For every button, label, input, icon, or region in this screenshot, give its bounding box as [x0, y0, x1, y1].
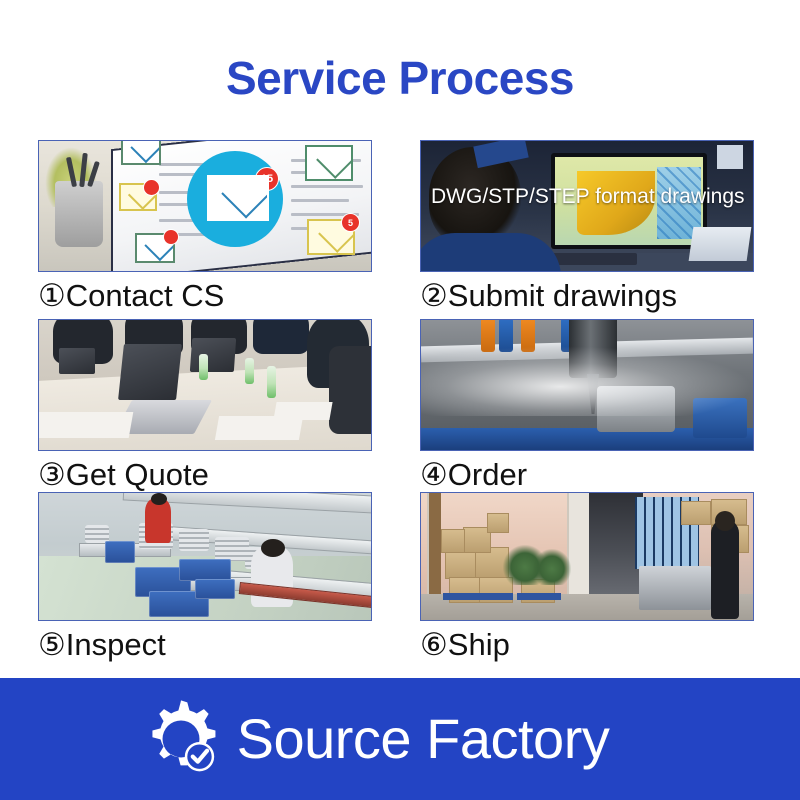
- drawing-format-overlay: DWG/STP/STEP format drawings: [431, 185, 745, 209]
- handling-cart: [639, 566, 711, 610]
- service-process-grid: 15 5 ①Contact CS: [38, 140, 750, 675]
- step-card-1: 15 5 ①Contact CS: [38, 140, 372, 314]
- step-text-2: Submit drawings: [448, 278, 677, 313]
- step-number-6: ⑥: [420, 627, 448, 662]
- step-number-4: ④: [420, 457, 448, 492]
- background-window: [717, 145, 743, 169]
- pen-cup: [55, 181, 103, 247]
- unread-badge-dot-a: [143, 179, 160, 196]
- step-label-5: ⑤Inspect: [38, 627, 372, 663]
- step-card-2: DWG/STP/STEP format drawings ②Submit dra…: [420, 140, 754, 314]
- step-label-4: ④Order: [420, 457, 754, 493]
- step-number-5: ⑤: [38, 627, 66, 662]
- brand-name: Source Factory: [237, 711, 610, 767]
- step-label-1: ①Contact CS: [38, 278, 372, 314]
- papers: [689, 227, 752, 261]
- email-inbox-photo: 15 5: [38, 140, 372, 272]
- unread-badge-5: 5: [341, 213, 360, 232]
- cad-workstation-photo: DWG/STP/STEP format drawings: [420, 140, 754, 272]
- page-title: Service Process: [0, 54, 800, 102]
- step-number-2: ②: [420, 278, 448, 313]
- step-label-3: ③Get Quote: [38, 457, 372, 493]
- step-card-3: ③Get Quote: [38, 319, 372, 493]
- step-card-4: ④Order: [420, 319, 754, 493]
- warehouse-shipping-photo: [420, 492, 754, 621]
- step-number-3: ③: [38, 457, 66, 492]
- step-text-5: Inspect: [66, 627, 166, 662]
- cnc-machining-photo: [420, 319, 754, 451]
- engineer-shoulder: [420, 233, 561, 272]
- worker-red: [145, 499, 171, 543]
- step-text-6: Ship: [448, 627, 510, 662]
- inspection-workshop-photo: [38, 492, 372, 621]
- gear-check-icon: [139, 697, 223, 781]
- coolant-spray: [421, 346, 753, 416]
- step-card-6: ⑥Ship: [420, 492, 754, 663]
- step-number-1: ①: [38, 278, 66, 313]
- meeting-room-photo: [38, 319, 372, 451]
- unread-badge-dot-b: [163, 229, 179, 245]
- warehouse-worker: [711, 519, 739, 619]
- step-text-3: Get Quote: [66, 457, 209, 492]
- step-label-2: ②Submit drawings: [420, 278, 754, 314]
- warehouse-worker-head: [715, 511, 735, 531]
- step-text-1: Contact CS: [66, 278, 225, 313]
- step-card-5: ⑤Inspect: [38, 492, 372, 663]
- step-label-6: ⑥Ship: [420, 627, 754, 663]
- step-text-4: Order: [448, 457, 527, 492]
- office-chair: [329, 346, 372, 434]
- footer-brand-bar: Source Factory: [0, 678, 800, 800]
